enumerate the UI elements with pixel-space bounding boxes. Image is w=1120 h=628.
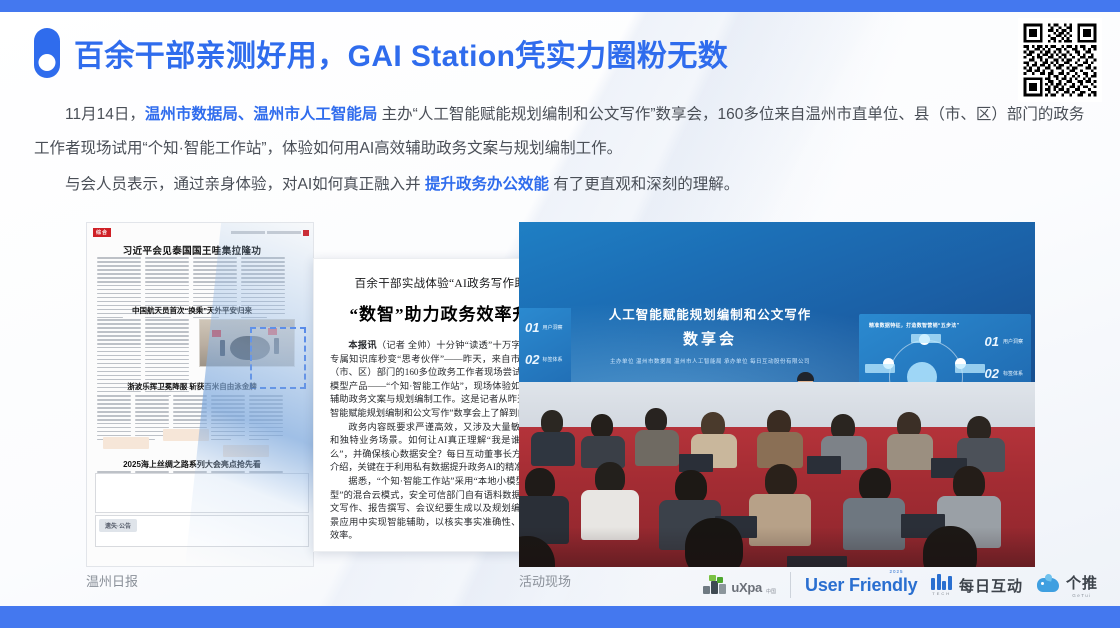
uxpa-logo: uXpa 中国 bbox=[703, 575, 776, 595]
slide-header: 百余干部亲测好用，GAI Station凭实力圈粉无数 bbox=[34, 28, 728, 78]
meiri-hudong-logo: TECH 每日互动 bbox=[931, 574, 1023, 596]
stage-left-item-0: 01用户洞察 bbox=[525, 320, 562, 335]
qr-code-icon[interactable] bbox=[1018, 18, 1102, 102]
logo-divider bbox=[790, 572, 791, 598]
getui-sub: GeTui bbox=[1066, 593, 1098, 598]
pill-bullet-icon bbox=[34, 28, 60, 78]
uxpa-mark-icon bbox=[703, 575, 727, 595]
user-friendly-wordmark: User Friendly bbox=[805, 575, 917, 595]
stage-left-item-1: 02标签体系 bbox=[525, 352, 562, 367]
meiri-hudong-sub: TECH bbox=[932, 591, 951, 596]
event-photo[interactable]: 01用户洞察 02标签体系 03数据分析 人工智能赋能规划编制和公文写作 数享会… bbox=[519, 222, 1035, 567]
media-row: 综合 习近平会见泰国国王哇集拉隆功 中国航天员首次“换乘”天外平安归来 bbox=[0, 222, 1120, 567]
stage-right-title: 精准数据特征，打造数智营销“五步法” bbox=[869, 322, 959, 329]
user-friendly-year: 2025 bbox=[889, 569, 903, 574]
clipping-lead-in: 本报讯 bbox=[348, 340, 376, 350]
intro-paragraph-2: 与会人员表示，通过亲身体验，对AI如何真正融入并 提升政务办公效能 有了更直观和… bbox=[34, 168, 1094, 202]
user-friendly-logo: 2025 User Friendly bbox=[805, 575, 917, 596]
intro-paragraph-1: 11月14日，温州市数据局、温州市人工智能局 主办“人工智能赋能规划编制和公文写… bbox=[34, 98, 1094, 166]
stage-screen-title: 人工智能赋能规划编制和公文写作 bbox=[565, 304, 855, 323]
stage-screen-text: 人工智能赋能规划编制和公文写作 数享会 主办单位 温州市数据局 温州市人工智能局… bbox=[565, 304, 855, 365]
newspaper-nameplate: 综合 bbox=[93, 228, 111, 237]
paragraph-1-highlight: 温州市数据局、温州市人工智能局 bbox=[145, 106, 378, 123]
newspaper-image[interactable]: 综合 习近平会见泰国国王哇集拉隆功 中国航天员首次“换乘”天外平安归来 bbox=[86, 222, 314, 567]
event-caption: 活动现场 bbox=[519, 571, 571, 590]
paragraph-2-highlight: 提升政务办公效能 bbox=[425, 176, 549, 193]
newspaper-caption: 温州日报 bbox=[86, 571, 138, 590]
photo-bottom-shade bbox=[519, 527, 1035, 567]
stage-screen-credits: 主办单位 温州市数据局 温州市人工智能局 承办单位 每日互动股份有限公司 bbox=[565, 357, 855, 365]
page-title: 百余干部亲测好用，GAI Station凭实力圈粉无数 bbox=[74, 31, 728, 75]
top-accent-bar bbox=[0, 0, 1120, 12]
bottom-accent-bar bbox=[0, 606, 1120, 628]
getui-logo: 个推 GeTui bbox=[1037, 572, 1098, 598]
getui-wordmark: 个推 GeTui bbox=[1066, 572, 1098, 598]
slide-root: 百余干部亲测好用，GAI Station凭实力圈粉无数 bbox=[0, 0, 1120, 628]
getui-text: 个推 bbox=[1066, 575, 1098, 592]
paragraph-1-text-a: 11月14日， bbox=[65, 106, 145, 123]
logo-strip: uXpa 中国 2025 User Friendly TECH 每日互动 个推 … bbox=[703, 572, 1098, 598]
stage-screen-subtitle: 数享会 bbox=[565, 328, 855, 349]
uxpa-wordmark: uXpa bbox=[731, 580, 762, 595]
stage-right-item-1: 02标签体系 bbox=[985, 366, 1023, 381]
paragraph-2-text-a: 与会人员表示，通过亲身体验，对AI如何真正融入并 bbox=[65, 176, 425, 193]
uxpa-region-label: 中国 bbox=[766, 588, 776, 595]
meiri-hudong-wordmark: 每日互动 bbox=[959, 575, 1023, 596]
paragraph-2-text-b: 有了更直观和深刻的理解。 bbox=[549, 176, 739, 193]
stage-right-item-0: 01用户洞察 bbox=[985, 334, 1023, 349]
meiri-hudong-mark-icon: TECH bbox=[931, 574, 952, 596]
newspaper-notice-tag: 遗失·公告 bbox=[99, 519, 137, 532]
getui-whale-icon bbox=[1037, 575, 1061, 595]
